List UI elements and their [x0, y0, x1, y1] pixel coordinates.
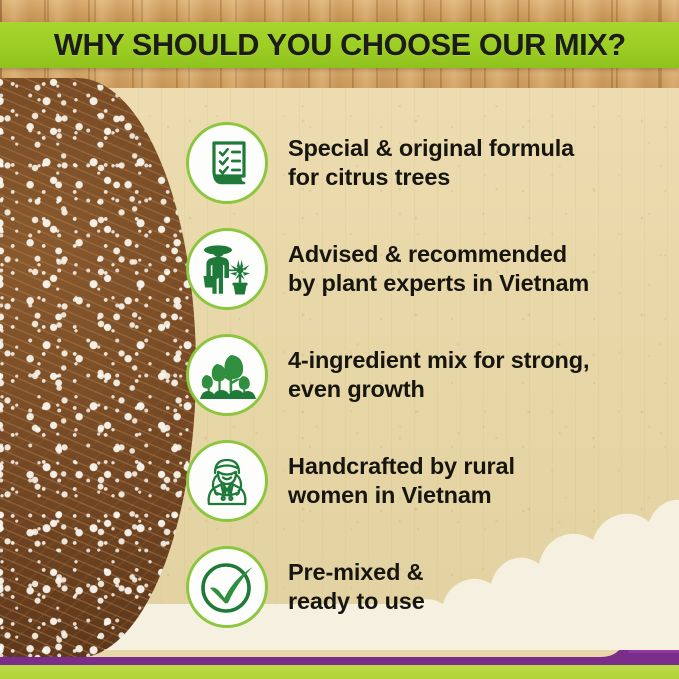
- feature-line-1: Handcrafted by rural: [288, 453, 515, 479]
- feature-line-1: Advised & recommended: [288, 241, 567, 267]
- feature-row: Advised & recommended by plant experts i…: [186, 216, 679, 322]
- wood-background-top: [0, 0, 679, 24]
- feature-line-2: even growth: [288, 375, 589, 404]
- feature-text: Advised & recommended by plant experts i…: [288, 240, 589, 297]
- feature-row: 4-ingredient mix for strong, even growth: [186, 322, 679, 428]
- feature-line-2: women in Vietnam: [288, 481, 515, 510]
- feature-line-2: by plant experts in Vietnam: [288, 269, 589, 298]
- feature-row: Pre-mixed & ready to use: [186, 534, 679, 640]
- feature-line-1: Special & original formula: [288, 135, 574, 161]
- feature-line-1: 4-ingredient mix for strong,: [288, 347, 589, 373]
- page-title: WHY SHOULD YOU CHOOSE OUR MIX?: [54, 27, 626, 63]
- checkmark-circle-icon: [186, 546, 268, 628]
- feature-text: Handcrafted by rural women in Vietnam: [288, 452, 515, 509]
- potting-mix-product-image: [0, 78, 196, 658]
- purple-footer-bar: [0, 650, 679, 665]
- feature-line-1: Pre-mixed &: [288, 559, 423, 585]
- green-footer-bar: [0, 665, 679, 679]
- feature-text: Special & original formula for citrus tr…: [288, 134, 574, 191]
- feature-text: Pre-mixed & ready to use: [288, 558, 425, 615]
- seedlings-sprouts-icon: [186, 334, 268, 416]
- feature-line-2: for citrus trees: [288, 163, 574, 192]
- rural-woman-icon: [186, 440, 268, 522]
- feature-text: 4-ingredient mix for strong, even growth: [288, 346, 589, 403]
- header-banner: WHY SHOULD YOU CHOOSE OUR MIX?: [0, 22, 679, 68]
- feature-row: Special & original formula for citrus tr…: [186, 110, 679, 216]
- feature-list: Special & original formula for citrus tr…: [186, 110, 679, 640]
- checklist-document-icon: [186, 122, 268, 204]
- infographic-poster: WHY SHOULD YOU CHOOSE OUR MIX? Special &…: [0, 0, 679, 679]
- feature-line-2: ready to use: [288, 587, 425, 616]
- feature-row: Handcrafted by rural women in Vietnam: [186, 428, 679, 534]
- gardener-watering-plant-icon: [186, 228, 268, 310]
